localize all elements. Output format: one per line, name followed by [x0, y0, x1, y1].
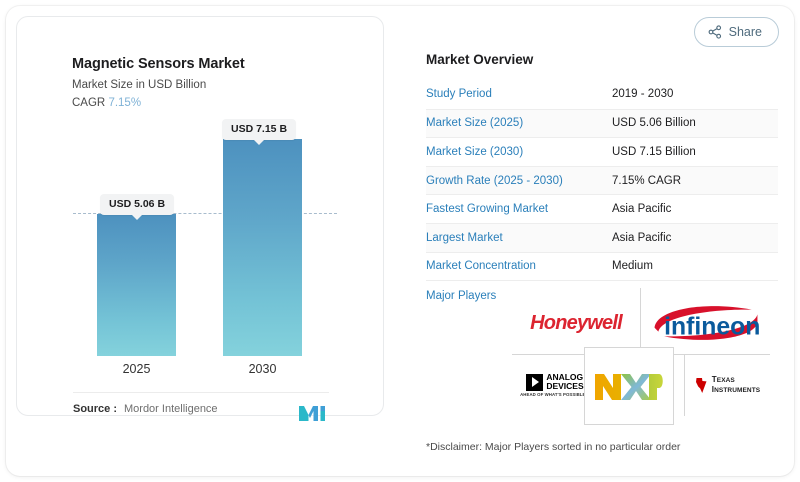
- adi-wordmark: ANALOGDEVICES: [546, 373, 583, 391]
- row-value: 2019 - 2030: [612, 88, 673, 100]
- row-key: Largest Market: [426, 232, 612, 244]
- row-value: 7.15% CAGR: [612, 175, 681, 187]
- bar-2025[interactable]: [97, 214, 176, 356]
- share-icon: [708, 25, 722, 39]
- x-axis-label-2030: 2030: [223, 362, 302, 376]
- screenshot-root: Magnetic Sensors Market Market Size in U…: [0, 0, 800, 482]
- row-key: Market Concentration: [426, 260, 612, 272]
- player-cell-nxp: [584, 347, 674, 425]
- infineon-logo: infineon: [646, 303, 766, 343]
- row-key: Fastest Growing Market: [426, 203, 612, 215]
- row-value: Asia Pacific: [612, 232, 671, 244]
- overview-title: Market Overview: [426, 52, 533, 67]
- source-divider: [73, 392, 329, 393]
- texas-instruments-logo: TEXASINSTRUMENTS: [695, 375, 760, 396]
- disclaimer-text: *Disclaimer: Major Players sorted in no …: [426, 441, 680, 453]
- table-row: Fastest Growing Market Asia Pacific: [426, 194, 778, 223]
- bar-label-2030: USD 7.15 B: [222, 119, 296, 140]
- source-label: Source :: [73, 403, 117, 415]
- table-row: Market Size (2030) USD 7.15 Billion: [426, 137, 778, 166]
- honeywell-logo: Honeywell: [530, 312, 622, 335]
- bar-chart-plot: USD 5.06 B USD 7.15 B 2025 2030: [17, 17, 385, 417]
- row-value: Asia Pacific: [612, 203, 671, 215]
- source-value: Mordor Intelligence: [124, 403, 218, 415]
- bar-2030[interactable]: [223, 139, 302, 356]
- market-overview-table: Study Period 2019 - 2030 Market Size (20…: [426, 80, 778, 310]
- texas-state-icon: [695, 377, 708, 394]
- adi-mark-and-name: ANALOGDEVICES: [526, 373, 583, 391]
- analog-devices-logo: ANALOGDEVICES AHEAD OF WHAT'S POSSIBLE™: [520, 373, 590, 397]
- bar-label-2025: USD 5.06 B: [100, 194, 174, 215]
- player-cell-infineon: infineon: [641, 294, 770, 352]
- player-cell-texas-instruments: TEXASINSTRUMENTS: [685, 356, 770, 414]
- row-value: USD 5.06 Billion: [612, 117, 696, 129]
- table-row: Market Size (2025) USD 5.06 Billion: [426, 109, 778, 138]
- share-button-label: Share: [729, 25, 762, 39]
- share-button[interactable]: Share: [694, 17, 779, 47]
- chart-panel: Magnetic Sensors Market Market Size in U…: [16, 16, 384, 416]
- row-key: Study Period: [426, 88, 612, 100]
- player-cell-honeywell: Honeywell: [512, 294, 640, 352]
- table-row: Market Concentration Medium: [426, 252, 778, 281]
- x-axis-label-2025: 2025: [97, 362, 176, 376]
- row-key: Growth Rate (2025 - 2030): [426, 175, 612, 187]
- adi-tagline: AHEAD OF WHAT'S POSSIBLE™: [520, 392, 590, 397]
- row-value: Medium: [612, 260, 653, 272]
- table-row: Growth Rate (2025 - 2030) 7.15% CAGR: [426, 166, 778, 195]
- mordor-intelligence-logo: [298, 404, 328, 422]
- analog-devices-triangle-icon: [526, 374, 543, 391]
- row-value: USD 7.15 Billion: [612, 146, 696, 158]
- row-key: Market Size (2025): [426, 117, 612, 129]
- table-row: Largest Market Asia Pacific: [426, 223, 778, 252]
- nxp-logo: [593, 368, 665, 404]
- ti-wordmark: TEXASINSTRUMENTS: [712, 375, 760, 396]
- table-row: Study Period 2019 - 2030: [426, 80, 778, 109]
- row-key: Market Size (2030): [426, 146, 612, 158]
- svg-text:infineon: infineon: [664, 313, 760, 340]
